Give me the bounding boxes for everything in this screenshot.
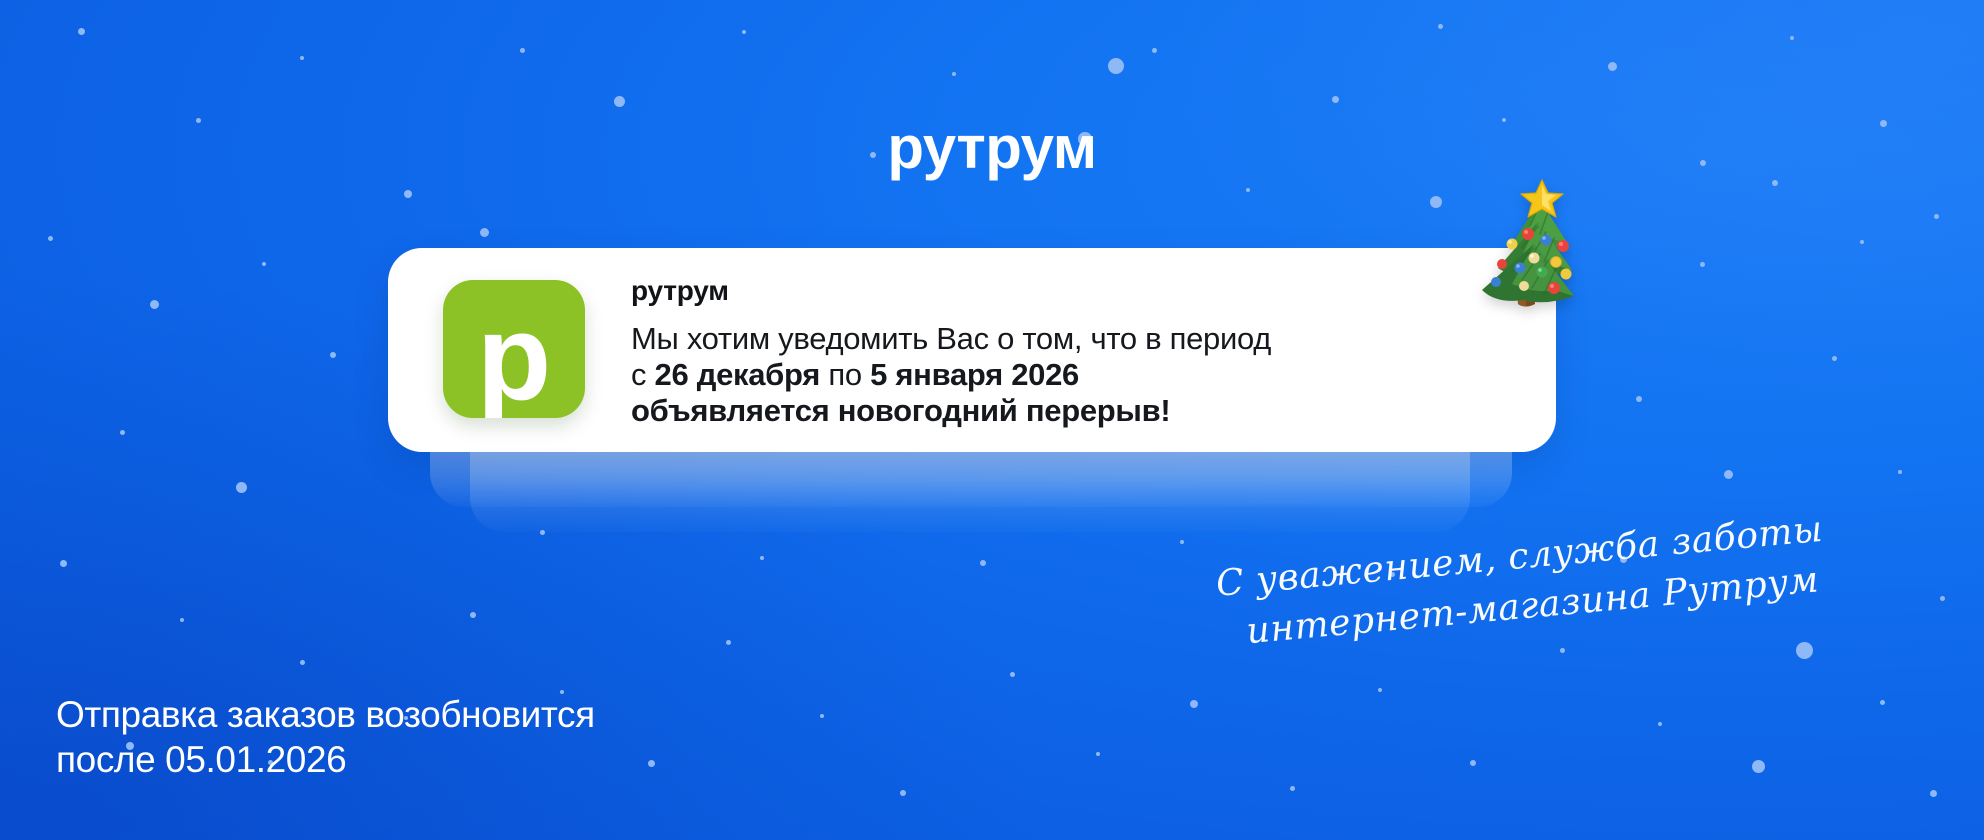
snow-dot <box>1290 786 1295 791</box>
snow-dot <box>760 556 764 560</box>
snow-dot <box>480 228 489 237</box>
snow-dot <box>1724 470 1733 479</box>
snow-dot <box>1658 722 1662 726</box>
app-icon-letter: р <box>477 310 552 405</box>
snow-dot <box>404 190 412 198</box>
snow-dot <box>1180 540 1184 544</box>
christmas-tree-icon <box>1468 178 1588 318</box>
snow-dot <box>300 56 304 60</box>
snow-dot <box>520 48 525 53</box>
snow-dot <box>820 714 824 718</box>
snow-dot <box>1430 196 1442 208</box>
snow-dot <box>1378 688 1382 692</box>
snow-dot <box>1930 790 1937 797</box>
snow-dot <box>262 262 266 266</box>
snow-dot <box>1940 596 1945 601</box>
snow-dot <box>48 236 53 241</box>
snow-dot <box>60 560 67 567</box>
snow-dot <box>1832 356 1837 361</box>
snow-dot <box>1772 180 1778 186</box>
message-line-3: объявляется новогодний перерыв! <box>631 393 1516 429</box>
snow-dot <box>1152 48 1157 53</box>
shipping-note-line-1: Отправка заказов возобновится <box>56 692 595 737</box>
snow-dot <box>300 660 305 665</box>
snow-dot <box>236 482 247 493</box>
snow-dot <box>1796 642 1813 659</box>
message-line-1: Мы хотим уведомить Вас о том, что в пери… <box>631 321 1516 357</box>
snow-dot <box>1470 760 1476 766</box>
snow-dot <box>1934 214 1939 219</box>
end-date: 5 января 2026 <box>870 357 1079 392</box>
snow-dot <box>1332 96 1339 103</box>
notice-card-brand: рутрум <box>631 276 1516 307</box>
snow-dot <box>952 72 956 76</box>
promo-banner: рутрум р рутрум Мы хотим уведомить Вас о… <box>0 0 1984 840</box>
start-date: 26 декабря <box>655 357 821 392</box>
notice-card: р рутрум Мы хотим уведомить Вас о том, ч… <box>388 248 1556 452</box>
brand-logo: рутрум <box>0 118 1984 178</box>
snow-dot <box>1898 470 1902 474</box>
snow-dot <box>120 430 125 435</box>
shipping-note-line-2: после 05.01.2026 <box>56 737 595 782</box>
snow-dot <box>1096 752 1100 756</box>
notice-card-body: рутрум Мы хотим уведомить Вас о том, что… <box>631 276 1516 430</box>
message-middle: по <box>820 357 870 392</box>
snow-dot <box>330 352 336 358</box>
snow-dot <box>1636 396 1642 402</box>
message-line-2: с 26 декабря по 5 января 2026 <box>631 357 1516 393</box>
snow-dot <box>470 612 476 618</box>
snow-dot <box>1010 672 1015 677</box>
notice-card-message: Мы хотим уведомить Вас о том, что в пери… <box>631 321 1516 430</box>
signature-text: С уважением, служба заботы интернет-мага… <box>1214 513 1741 659</box>
snow-dot <box>900 790 906 796</box>
snow-dot <box>1752 760 1765 773</box>
snow-dot <box>180 618 184 622</box>
snow-dot <box>648 760 655 767</box>
snow-dot <box>1608 62 1617 71</box>
snow-dot <box>1438 24 1443 29</box>
snow-dot <box>726 640 731 645</box>
snow-dot <box>150 300 159 309</box>
snow-dot <box>1108 58 1124 74</box>
snow-dot <box>1560 648 1565 653</box>
snow-dot <box>1880 700 1885 705</box>
snow-dot <box>1246 188 1250 192</box>
snow-dot <box>614 96 625 107</box>
snow-dot <box>742 30 746 34</box>
message-prefix: с <box>631 357 655 392</box>
snow-dot <box>1860 240 1864 244</box>
app-icon: р <box>443 280 585 418</box>
shipping-resume-note: Отправка заказов возобновится после 05.0… <box>56 692 595 782</box>
snow-dot <box>78 28 85 35</box>
snow-dot <box>1700 262 1705 267</box>
snow-dot <box>1190 700 1198 708</box>
snow-dot <box>1790 36 1794 40</box>
snow-dot <box>980 560 986 566</box>
